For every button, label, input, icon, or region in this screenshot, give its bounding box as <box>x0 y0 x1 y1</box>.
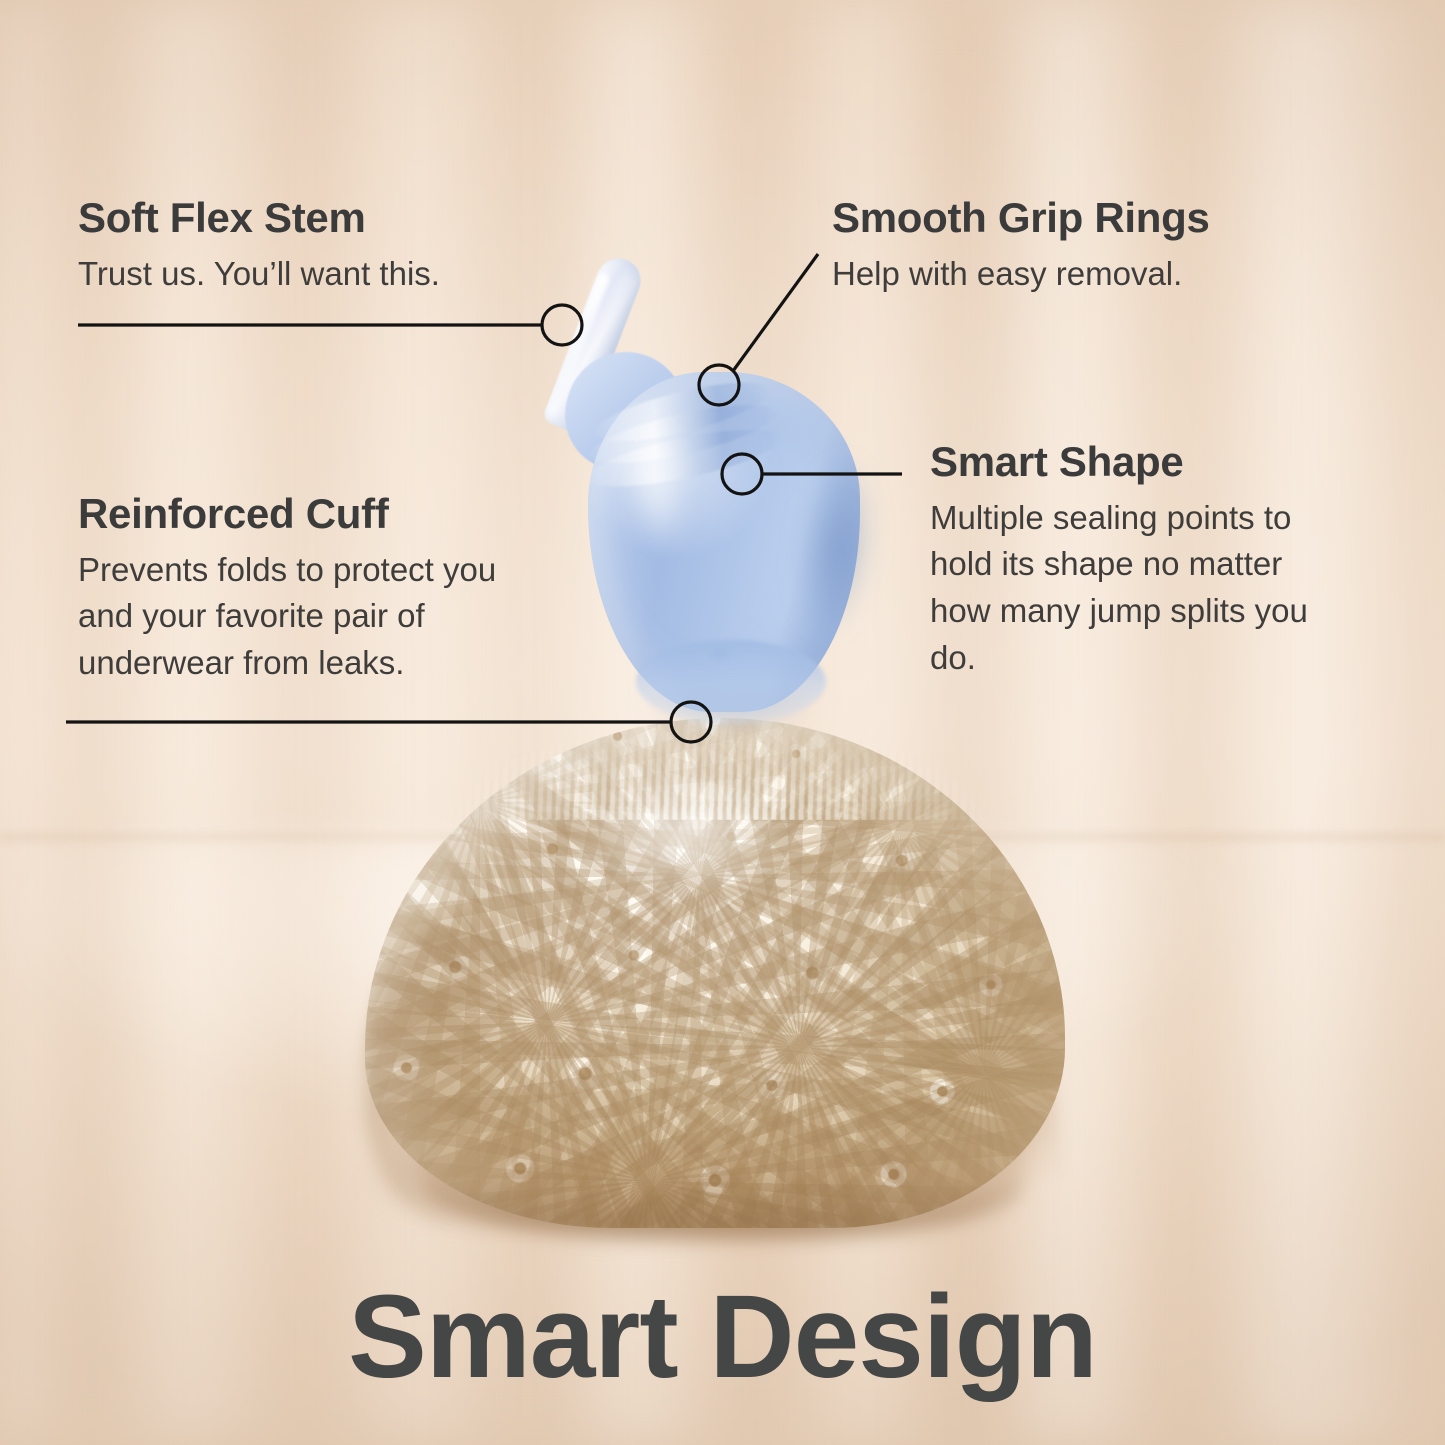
callout-reinforced-cuff: Reinforced Cuff Prevents folds to protec… <box>78 492 548 687</box>
callout-title-smart-shape: Smart Shape <box>930 440 1330 485</box>
callout-title-smooth-grip-rings: Smooth Grip Rings <box>832 196 1210 241</box>
callout-description-smooth-grip-rings: Help with easy removal. <box>832 251 1210 298</box>
callout-title-soft-flex-stem: Soft Flex Stem <box>78 196 440 241</box>
cup-rim <box>636 640 826 724</box>
callout-smooth-grip-rings: Smooth Grip Rings Help with easy removal… <box>832 196 1210 297</box>
callout-soft-flex-stem: Soft Flex Stem Trust us. You’ll want thi… <box>78 196 440 297</box>
callout-description-reinforced-cuff: Prevents folds to protect you and your f… <box>78 547 548 688</box>
callout-title-reinforced-cuff: Reinforced Cuff <box>78 492 548 537</box>
callout-smart-shape: Smart Shape Multiple sealing points to h… <box>930 440 1330 682</box>
page-headline: Smart Design <box>0 1278 1445 1396</box>
callout-description-soft-flex-stem: Trust us. You’ll want this. <box>78 251 440 298</box>
callout-description-smart-shape: Multiple sealing points to hold its shap… <box>930 495 1330 682</box>
product-infographic: Soft Flex Stem Trust us. You’ll want thi… <box>0 0 1445 1445</box>
